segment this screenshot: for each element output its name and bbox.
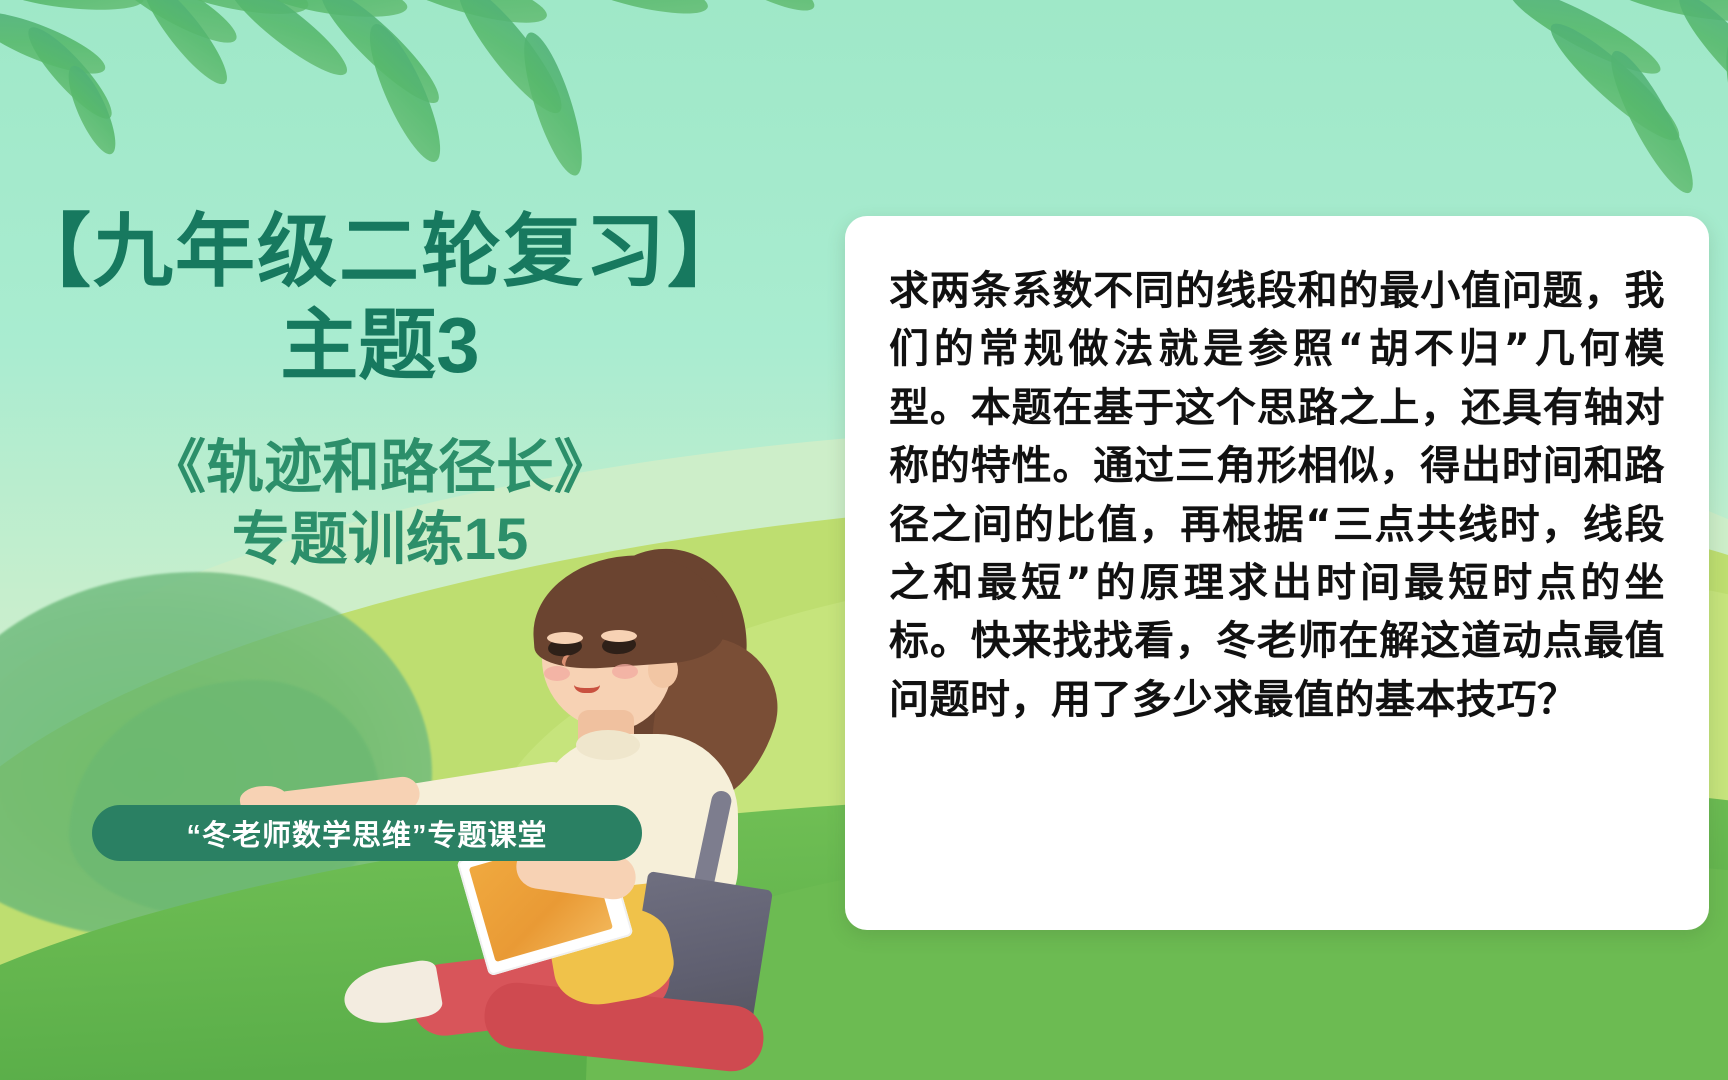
page-title-sub: 主题3 (0, 301, 760, 391)
title-block: 【九年级二轮复习】 主题3 《轨迹和路径长》 专题训练15 (0, 205, 760, 574)
cheek-right (612, 664, 638, 679)
poster-canvas: 【九年级二轮复习】 主题3 《轨迹和路径长》 专题训练15 (0, 0, 1728, 1080)
description-text: 求两条系数不同的线段和的最小值问题，我们的常规做法就是参照“胡不归”几何模型。本… (889, 262, 1665, 729)
eyelid-left (547, 632, 583, 644)
course-banner-label: “冬老师数学思维”专题课堂 (186, 812, 547, 854)
girl-pointing-with-book-illustration (420, 520, 840, 1080)
mouth-shape (574, 672, 600, 693)
cheek-left (544, 666, 570, 681)
eyelid-right (601, 630, 637, 642)
collar-shape (576, 730, 640, 760)
book-title: 《轨迹和路径长》 (0, 433, 760, 503)
course-banner: “冬老师数学思维”专题课堂 (92, 805, 642, 861)
description-card: 求两条系数不同的线段和的最小值问题，我们的常规做法就是参照“胡不归”几何模型。本… (845, 216, 1709, 930)
page-title-main: 【九年级二轮复习】 (0, 205, 760, 299)
